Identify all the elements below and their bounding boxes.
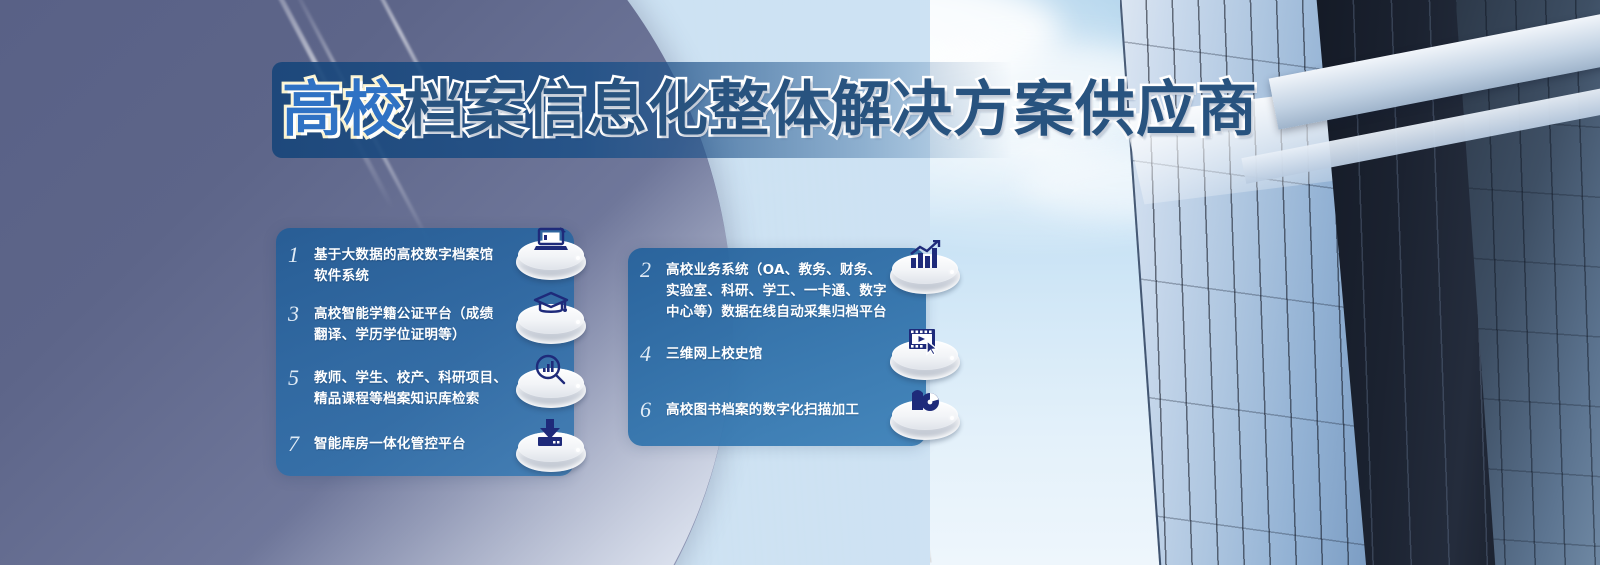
list-item-number: 2 — [640, 260, 666, 280]
list-item[interactable]: 7 智能库房一体化管控平台 — [288, 434, 518, 455]
laptop-icon — [533, 226, 569, 256]
icon-puck-graduation[interactable] — [516, 294, 586, 350]
list-item[interactable]: 5 教师、学生、校产、科研项目、 精品课程等档案知识库检索 — [288, 368, 524, 410]
list-item[interactable]: 6 高校图书档案的数字化扫描加工 — [640, 400, 890, 421]
list-item-label: 三维网上校史馆 — [666, 344, 763, 365]
icon-puck-archive[interactable] — [516, 422, 586, 478]
graduation-cap-icon — [533, 290, 569, 320]
list-item-label: 高校智能学籍公证平台（成绩 翻译、学历学位证明等） — [314, 304, 493, 346]
list-item-label: 基于大数据的高校数字档案馆 软件系统 — [314, 245, 493, 287]
puck-highlight-dot — [576, 448, 580, 452]
icon-puck-video[interactable] — [890, 330, 960, 386]
search-analytics-icon — [533, 354, 567, 386]
puck-highlight-dot — [950, 270, 954, 274]
list-item-number: 7 — [288, 434, 314, 454]
icon-puck-chart[interactable] — [890, 244, 960, 300]
puck-highlight-dot — [576, 384, 580, 388]
list-item[interactable]: 1 基于大数据的高校数字档案馆 软件系统 — [288, 245, 518, 287]
scanner-icon — [907, 386, 941, 416]
list-item-number: 1 — [288, 245, 314, 265]
page-title: 高校档案信息化整体解决方案供应商 — [282, 66, 1258, 154]
list-item-number: 4 — [640, 344, 666, 364]
list-item-label: 高校业务系统（OA、教务、财务、 实验室、科研、学工、一卡通、数字 中心等）数据… — [666, 260, 887, 323]
list-item[interactable]: 3 高校智能学籍公证平台（成绩 翻译、学历学位证明等） — [288, 304, 518, 346]
list-item-number: 6 — [640, 400, 666, 420]
list-item-label: 智能库房一体化管控平台 — [314, 434, 466, 455]
title-rest: 档案信息化整体解决方案供应商 — [404, 75, 1258, 145]
list-item-number: 3 — [288, 304, 314, 324]
video-click-icon — [907, 326, 941, 356]
puck-highlight-dot — [950, 416, 954, 420]
puck-highlight-dot — [576, 320, 580, 324]
bar-chart-growth-icon — [907, 240, 943, 272]
icon-puck-scanner[interactable] — [890, 390, 960, 446]
banner-stage: 高校档案信息化整体解决方案供应商 1 基于大数据的高校数字档案馆 软件系统 3 … — [0, 0, 1600, 565]
puck-highlight-dot — [576, 256, 580, 260]
icon-puck-search[interactable] — [516, 358, 586, 414]
title-highlight: 高校 — [282, 75, 404, 145]
list-item-label: 教师、学生、校产、科研项目、 精品课程等档案知识库检索 — [314, 368, 507, 410]
icon-puck-laptop[interactable] — [516, 230, 586, 286]
archive-download-icon — [533, 418, 567, 448]
list-item[interactable]: 4 三维网上校史馆 — [640, 344, 880, 365]
list-item[interactable]: 2 高校业务系统（OA、教务、财务、 实验室、科研、学工、一卡通、数字 中心等）… — [640, 260, 898, 323]
puck-highlight-dot — [950, 356, 954, 360]
list-item-label: 高校图书档案的数字化扫描加工 — [666, 400, 859, 421]
list-item-number: 5 — [288, 368, 314, 388]
